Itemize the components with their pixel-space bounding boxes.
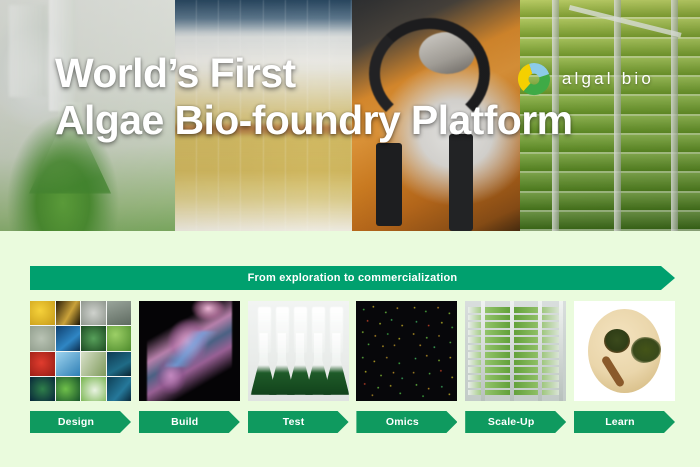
pipeline-steps: Design Build Test Omics Scale-Up Learn [30,411,675,433]
thumbnail-omics[interactable] [356,301,457,401]
thumbnail-learn[interactable] [574,301,675,401]
microarray-quadrant [358,303,405,350]
pipeline-step-label: Learn [605,416,644,428]
dna-highlight-icon [165,331,218,367]
microarray-quadrant [408,352,455,399]
thumbnail-build[interactable] [139,301,240,401]
brand-logo[interactable]: algal bio [515,60,654,98]
brand-name: algal bio [562,69,654,89]
flow-banner-label: From exploration to commercialization [248,272,458,284]
pipeline-section: From exploration to commercialization [0,231,700,467]
pipeline-step-design[interactable]: Design [30,411,131,433]
pipeline-step-learn[interactable]: Learn [574,411,675,433]
pipeline-step-label: Scale-Up [488,416,544,428]
algal-bio-swirl-icon [515,60,553,98]
thumbnail-scale-up[interactable] [465,301,566,401]
pipeline-step-label: Test [283,416,314,428]
pipeline-step-build[interactable]: Build [139,411,240,433]
pipeline-step-omics[interactable]: Omics [356,411,457,433]
pipeline-step-scale-up[interactable]: Scale-Up [465,411,566,433]
thumbnail-design[interactable] [30,301,131,401]
microscopy-grid-icon [30,301,131,401]
page-title-line2: Algae Bio-foundry Platform [55,97,572,144]
reactor-rows-icon [465,301,566,401]
microarray-quadrant [358,352,405,399]
pipeline-step-label: Design [58,416,103,428]
pipeline-step-label: Omics [386,416,428,428]
flow-banner: From exploration to commercialization [30,266,675,290]
page-title-line1: World’s First [55,50,296,96]
thumbnail-test[interactable] [248,301,349,401]
poster-root: World’s First Algae Bio-foundry Platform… [0,0,700,467]
pipeline-thumbnails [30,301,675,401]
page-title: World’s First Algae Bio-foundry Platform [55,50,572,144]
microarray-quadrant [408,303,455,350]
pipeline-step-test[interactable]: Test [248,411,349,433]
pipeline-step-label: Build [171,416,207,428]
hero-banner: World’s First Algae Bio-foundry Platform… [0,0,700,231]
